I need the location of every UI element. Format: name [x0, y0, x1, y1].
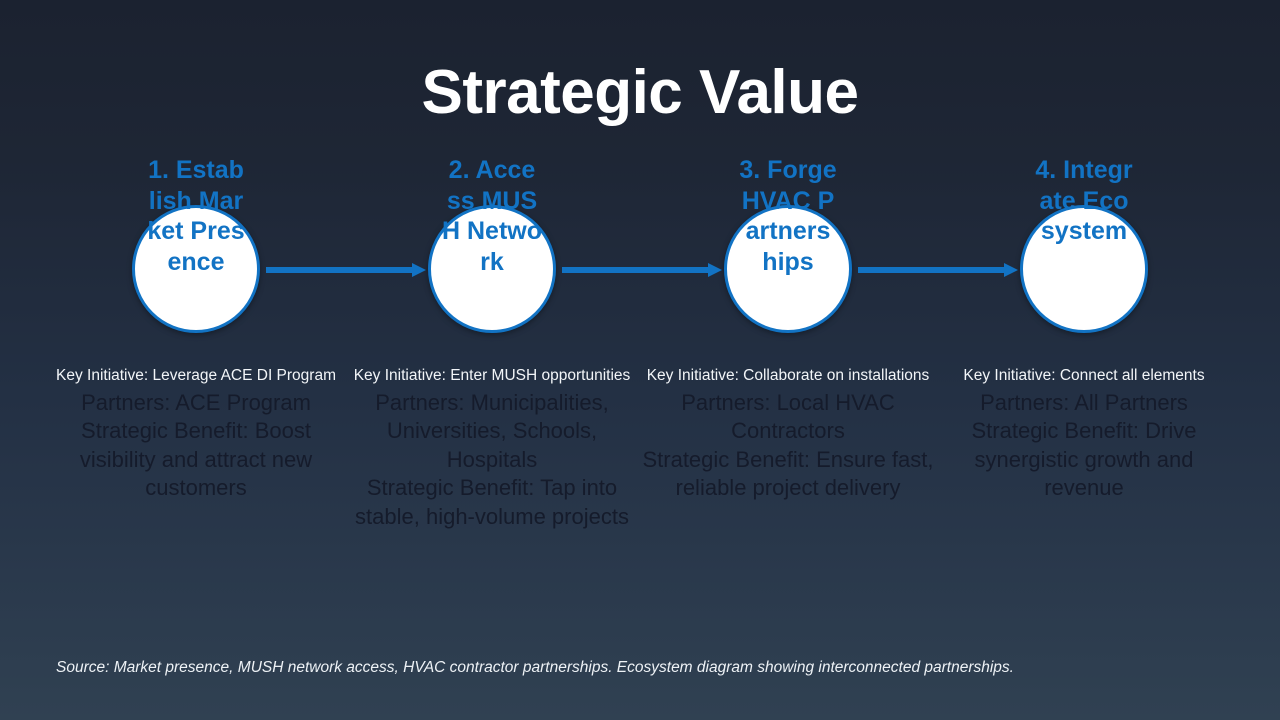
node-details-3: Key Initiative: Collaborate on installat…	[640, 366, 936, 503]
flow-arrow-2	[562, 263, 722, 277]
strategic-benefit-4: Strategic Benefit: Drive synergistic gro…	[936, 417, 1232, 503]
flow-node-4-circle	[1020, 205, 1148, 333]
source-note: Source: Market presence, MUSH network ac…	[56, 656, 1066, 680]
flow-arrow-1	[266, 263, 426, 277]
flow-arrow-2-shaft	[562, 267, 708, 273]
partners-3: Partners: Local HVAC Contractors	[640, 389, 936, 446]
partners-1: Partners: ACE Program	[48, 389, 344, 418]
flow-arrow-3	[858, 263, 1018, 277]
flow-node-1-circle	[132, 205, 260, 333]
key-initiative-3: Key Initiative: Collaborate on installat…	[640, 366, 936, 387]
strategic-benefit-1: Strategic Benefit: Boost visibility and …	[48, 417, 344, 503]
process-flow-diagram: 1. Establish Market Presence 2. Access M…	[0, 160, 1280, 390]
flow-arrow-1-head	[412, 263, 426, 277]
page-title: Strategic Value	[0, 60, 1280, 125]
partners-2: Partners: Municipalities, Universities, …	[344, 389, 640, 475]
strategic-benefit-3: Strategic Benefit: Ensure fast, reliable…	[640, 446, 936, 503]
node-details-1: Key Initiative: Leverage ACE DI Program …	[48, 366, 344, 503]
flow-node-3-circle	[724, 205, 852, 333]
key-initiative-2: Key Initiative: Enter MUSH opportunities	[344, 366, 640, 387]
node-details-row: Key Initiative: Leverage ACE DI Program …	[0, 366, 1280, 626]
node-details-2: Key Initiative: Enter MUSH opportunities…	[344, 366, 640, 532]
strategic-benefit-2: Strategic Benefit: Tap into stable, high…	[344, 474, 640, 531]
key-initiative-1: Key Initiative: Leverage ACE DI Program	[48, 366, 344, 387]
flow-arrow-1-shaft	[266, 267, 412, 273]
key-initiative-4: Key Initiative: Connect all elements	[936, 366, 1232, 387]
flow-arrow-3-shaft	[858, 267, 1004, 273]
flow-arrow-2-head	[708, 263, 722, 277]
partners-4: Partners: All Partners	[936, 389, 1232, 418]
node-details-4: Key Initiative: Connect all elements Par…	[936, 366, 1232, 503]
flow-arrow-3-head	[1004, 263, 1018, 277]
flow-node-2-circle	[428, 205, 556, 333]
